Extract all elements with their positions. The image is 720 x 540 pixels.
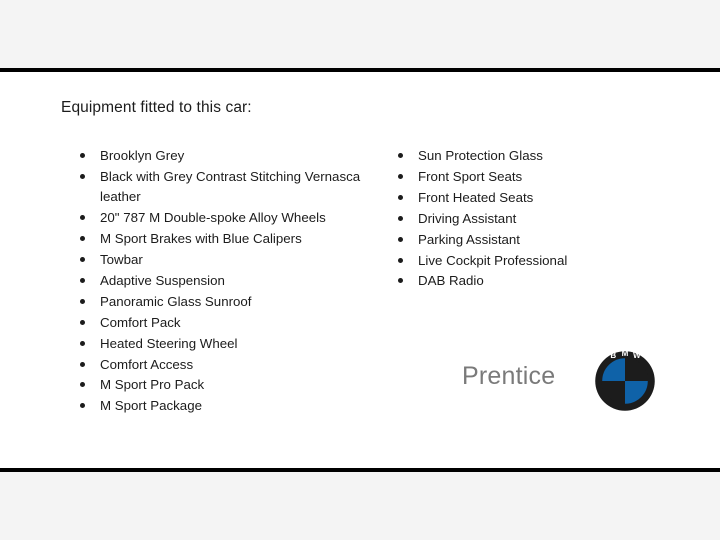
slide-content: Equipment fitted to this car: Brooklyn G… (0, 72, 720, 468)
list-item: Adaptive Suspension (72, 271, 372, 291)
bullet-icon (398, 195, 403, 200)
list-item: M Sport Pro Pack (72, 375, 372, 395)
bullet-icon (398, 258, 403, 263)
list-item: Heated Steering Wheel (72, 334, 372, 354)
bullet-icon (80, 362, 85, 367)
list-item-label: Panoramic Glass Sunroof (100, 294, 252, 309)
list-item-label: Adaptive Suspension (100, 273, 225, 288)
list-item-label: DAB Radio (418, 273, 484, 288)
bullet-icon (398, 237, 403, 242)
dealer-branding: Prentice B M W (462, 348, 682, 418)
list-item-label: Live Cockpit Professional (418, 253, 567, 268)
bullet-icon (80, 174, 85, 179)
bmw-logo: B M W (594, 350, 656, 412)
bullet-icon (80, 257, 85, 262)
slide: Equipment fitted to this car: Brooklyn G… (0, 0, 720, 540)
list-item-label: M Sport Pro Pack (100, 377, 204, 392)
list-item-label: Comfort Access (100, 357, 193, 372)
list-item: Towbar (72, 250, 372, 270)
list-item: Comfort Access (72, 355, 372, 375)
bullet-icon (80, 215, 85, 220)
list-item-label: M Sport Brakes with Blue Calipers (100, 231, 302, 246)
list-item: Brooklyn Grey (72, 146, 372, 166)
bullet-icon (398, 216, 403, 221)
list-item-label: 20" 787 M Double-spoke Alloy Wheels (100, 210, 326, 225)
bullet-icon (398, 278, 403, 283)
list-item-label: Comfort Pack (100, 315, 181, 330)
bullet-icon (398, 174, 403, 179)
bullet-icon (80, 382, 85, 387)
list-item: Live Cockpit Professional (390, 251, 680, 271)
bullet-icon (80, 236, 85, 241)
list-item: Front Heated Seats (390, 188, 680, 208)
top-band (0, 0, 720, 68)
list-item: Comfort Pack (72, 313, 372, 333)
svg-text:B: B (610, 351, 616, 360)
list-item-label: Sun Protection Glass (418, 148, 543, 163)
list-item: 20" 787 M Double-spoke Alloy Wheels (72, 208, 372, 228)
list-item-label: Heated Steering Wheel (100, 336, 237, 351)
list-item: Front Sport Seats (390, 167, 680, 187)
list-item-label: Front Sport Seats (418, 169, 522, 184)
bullet-icon (398, 153, 403, 158)
equipment-bullets-left: Brooklyn Grey Black with Grey Contrast S… (72, 146, 372, 417)
bullet-icon (80, 153, 85, 158)
list-item: M Sport Package (72, 396, 372, 416)
bullet-icon (80, 320, 85, 325)
list-item-label: Driving Assistant (418, 211, 516, 226)
list-item: Sun Protection Glass (390, 146, 680, 166)
equipment-list-left: Brooklyn Grey Black with Grey Contrast S… (72, 146, 372, 417)
list-item: Parking Assistant (390, 230, 680, 250)
page-title: Equipment fitted to this car: (61, 99, 252, 117)
svg-text:M: M (622, 350, 629, 358)
bullet-icon (80, 341, 85, 346)
equipment-list-right: Sun Protection Glass Front Sport Seats F… (390, 146, 680, 292)
bullet-icon (80, 403, 85, 408)
bullet-icon (80, 278, 85, 283)
bullet-icon (80, 299, 85, 304)
svg-text:W: W (633, 351, 641, 360)
list-item-label: M Sport Package (100, 398, 202, 413)
list-item-label: Parking Assistant (418, 232, 520, 247)
list-item: DAB Radio (390, 271, 680, 291)
list-item: Panoramic Glass Sunroof (72, 292, 372, 312)
list-item-label: Towbar (100, 252, 143, 267)
list-item-label: Black with Grey Contrast Stitching Verna… (100, 169, 360, 204)
list-item-label: Front Heated Seats (418, 190, 533, 205)
list-item: Driving Assistant (390, 209, 680, 229)
equipment-bullets-right: Sun Protection Glass Front Sport Seats F… (390, 146, 680, 292)
list-item: M Sport Brakes with Blue Calipers (72, 229, 372, 249)
list-item-label: Brooklyn Grey (100, 148, 184, 163)
bottom-band (0, 472, 720, 540)
dealer-name: Prentice (462, 362, 555, 391)
list-item: Black with Grey Contrast Stitching Verna… (72, 167, 372, 208)
